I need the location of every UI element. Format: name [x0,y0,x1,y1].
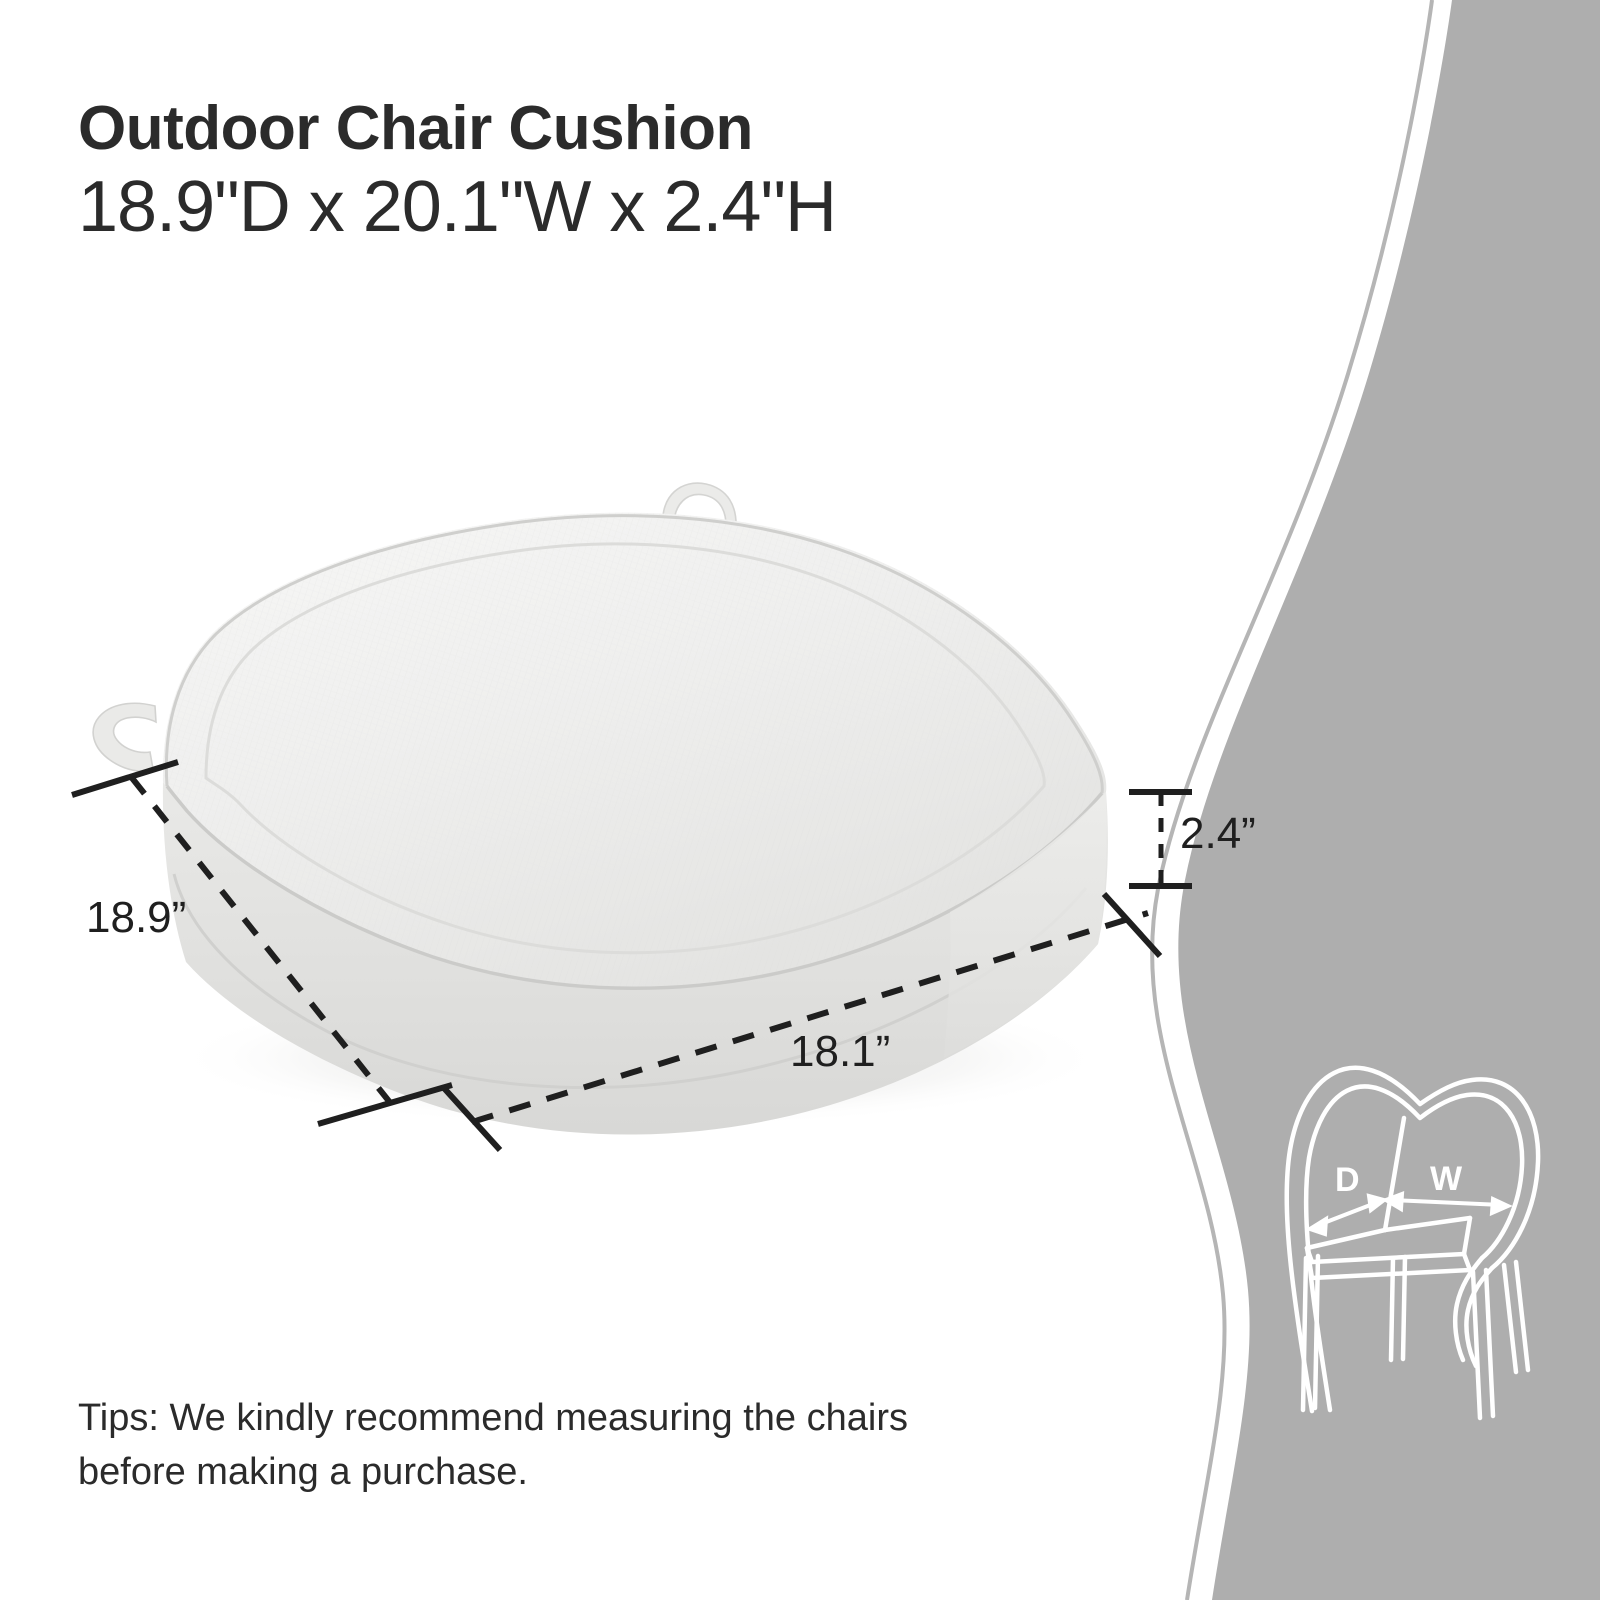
chair-seat-apron-right [1464,1254,1470,1270]
chair-seat-back-edge [1385,1218,1470,1230]
chair-seat-front-edge [1312,1254,1464,1262]
chair-leg-rear-right [1473,1270,1493,1418]
chair-depth-arrowhead-right [1369,1196,1384,1210]
chair-seat-right-edge [1464,1218,1470,1254]
chair-depth-label: D [1335,1161,1360,1199]
chair-line-art [1287,1068,1538,1418]
chair-leg-far-right [1504,1262,1528,1372]
chair-width-label: W [1430,1160,1463,1198]
chair-reference-diagram: D W [0,0,1600,1600]
chair-depth-arrowhead-left [1310,1219,1326,1234]
chair-width-arrowhead-right [1492,1199,1508,1213]
chair-width-arrow-line [1392,1200,1502,1205]
product-dimension-infographic: 18.9” 18.1” 2.4” [0,0,1600,1600]
chair-seat-dimension-arrows: D W [1310,1160,1508,1234]
chair-back-post [1385,1118,1404,1230]
